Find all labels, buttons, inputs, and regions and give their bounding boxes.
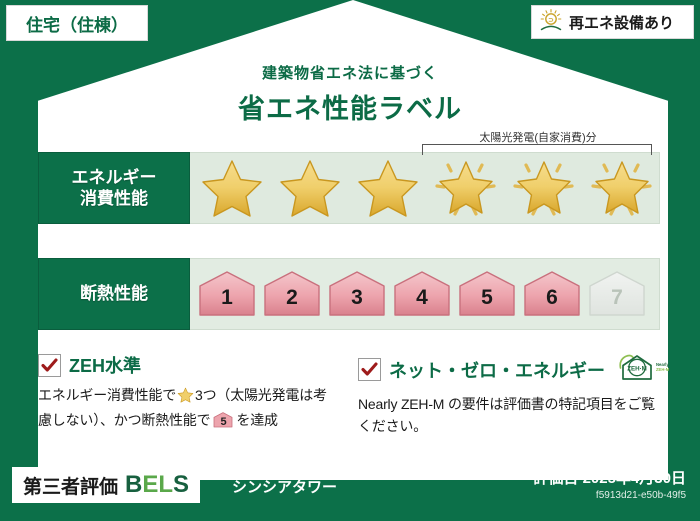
bels-letter-s: S [173,471,189,498]
inline-star-icon [177,390,194,406]
renewable-equipment-badge: ⊃ 再エネ設備あり [531,5,694,39]
zeh-desc-part1: エネルギー消費性能で [38,387,176,403]
inline-house-level: 5 [212,414,234,431]
insulation-level-5-number: 5 [456,286,518,310]
bels-letter-b: B [125,471,142,498]
energy-star-6-solar [584,155,660,221]
insulation-level-7: 7 [586,267,648,321]
solar-share-note: 太陽光発電(自家消費)分 [418,129,658,145]
bels-letter-el: EL [142,471,173,498]
sun-icon: ⊃ [538,8,564,37]
zeh-standard-header: ZEH水準 [38,352,338,378]
third-party-eval-label: 第三者評価 [23,472,118,499]
energy-star-2 [272,155,348,221]
net-zero-energy-description: Nearly ZEH-M の要件は評価書の特記項目をご覧ください。 [358,394,658,437]
check-icon [361,362,378,377]
zeh-desc-part3: を達成 [236,412,277,428]
energy-key-line1: エネルギー [72,167,157,188]
bels-certification-box: 第三者評価 BELS [12,467,200,503]
net-zero-energy-title: ネット・ゼロ・エネルギー [389,357,605,383]
insulation-level-5: 5 [456,267,518,321]
insulation-performance-row: 断熱性能 [38,258,660,330]
insulation-level-4-number: 4 [391,286,453,310]
bels-energy-label: 住宅（住棟） ⊃ 再エネ設備あり 建築物省エネ法に基づ [0,0,700,521]
net-zero-energy-checkbox[interactable] [358,358,381,381]
energy-key-line2: 消費性能 [80,188,148,209]
zeh-standard-title: ZEH水準 [69,352,141,378]
insulation-level-1-number: 1 [196,286,258,310]
evaluation-date: 評価日 2025年4月30日 [533,467,686,488]
svg-text:ZEH·M: ZEH·M [627,366,647,373]
evaluation-meta: 評価日 2025年4月30日 f5913d21-e50b-49f5 [533,467,686,501]
title-heading: 省エネ性能ラベル [0,87,700,126]
energy-performance-key: エネルギー 消費性能 [38,152,190,224]
inline-house-icon: 5 [212,411,234,429]
energy-star-3 [350,155,426,221]
zeh-m-logo-icon: ZEH·M Nearly ZEH-M [617,352,679,387]
label-title-block: 建築物省エネ法に基づく 省エネ性能ラベル [0,62,700,126]
check-icon [41,358,58,373]
insulation-level-scale: 1 2 3 4 [190,267,648,321]
insulation-level-7-number: 7 [586,286,648,310]
label-footer: 第三者評価 BELS シンシアタワー 評価日 2025年4月30日 f5913d… [0,462,700,521]
building-type-label: 住宅（住棟） [26,11,128,36]
energy-star-rating [190,155,660,221]
insulation-level-6-number: 6 [521,286,583,310]
renewable-badge-label: 再エネ設備あり [569,12,674,33]
building-type-tab: 住宅（住棟） [6,5,148,41]
svg-text:ZEH-M: ZEH-M [656,367,670,372]
insulation-level-1: 1 [196,267,258,321]
insulation-key-label: 断熱性能 [80,283,148,304]
energy-star-4-solar [428,155,504,221]
net-zero-energy-header: ネット・ゼロ・エネルギー ZEH·M Nearly ZEH-M [358,352,658,387]
insulation-performance-value: 1 2 3 4 [190,258,660,330]
energy-performance-value: 太陽光発電(自家消費)分 [190,152,660,224]
insulation-level-4: 4 [391,267,453,321]
evaluation-uuid: f5913d21-e50b-49f5 [533,490,686,501]
insulation-level-6: 6 [521,267,583,321]
insulation-level-2: 2 [261,267,323,321]
energy-performance-row: エネルギー 消費性能 太陽光発電(自家消費)分 [38,152,660,224]
zeh-standard-description: エネルギー消費性能で3つ（太陽光発電は考慮しない）、かつ断熱性能で5を達成 [38,385,338,431]
zeh-desc-star-count: 3つ [195,387,216,403]
insulation-performance-key: 断熱性能 [38,258,190,330]
title-subheading: 建築物省エネ法に基づく [0,62,700,83]
solar-share-bracket [422,144,652,155]
insulation-level-3: 3 [326,267,388,321]
insulation-level-3-number: 3 [326,286,388,310]
zeh-standard-block: ZEH水準 エネルギー消費性能で3つ（太陽光発電は考慮しない）、かつ断熱性能で5… [38,352,338,431]
zeh-standard-checkbox[interactable] [38,354,61,377]
insulation-level-2-number: 2 [261,286,323,310]
building-name: シンシアタワー [232,476,337,497]
energy-star-1 [194,155,270,221]
energy-star-5-solar [506,155,582,221]
net-zero-energy-block: ネット・ゼロ・エネルギー ZEH·M Nearly ZEH-M Nearly Z… [358,352,658,437]
bels-wordmark: BELS [125,471,189,499]
svg-text:⊃: ⊃ [548,17,554,24]
